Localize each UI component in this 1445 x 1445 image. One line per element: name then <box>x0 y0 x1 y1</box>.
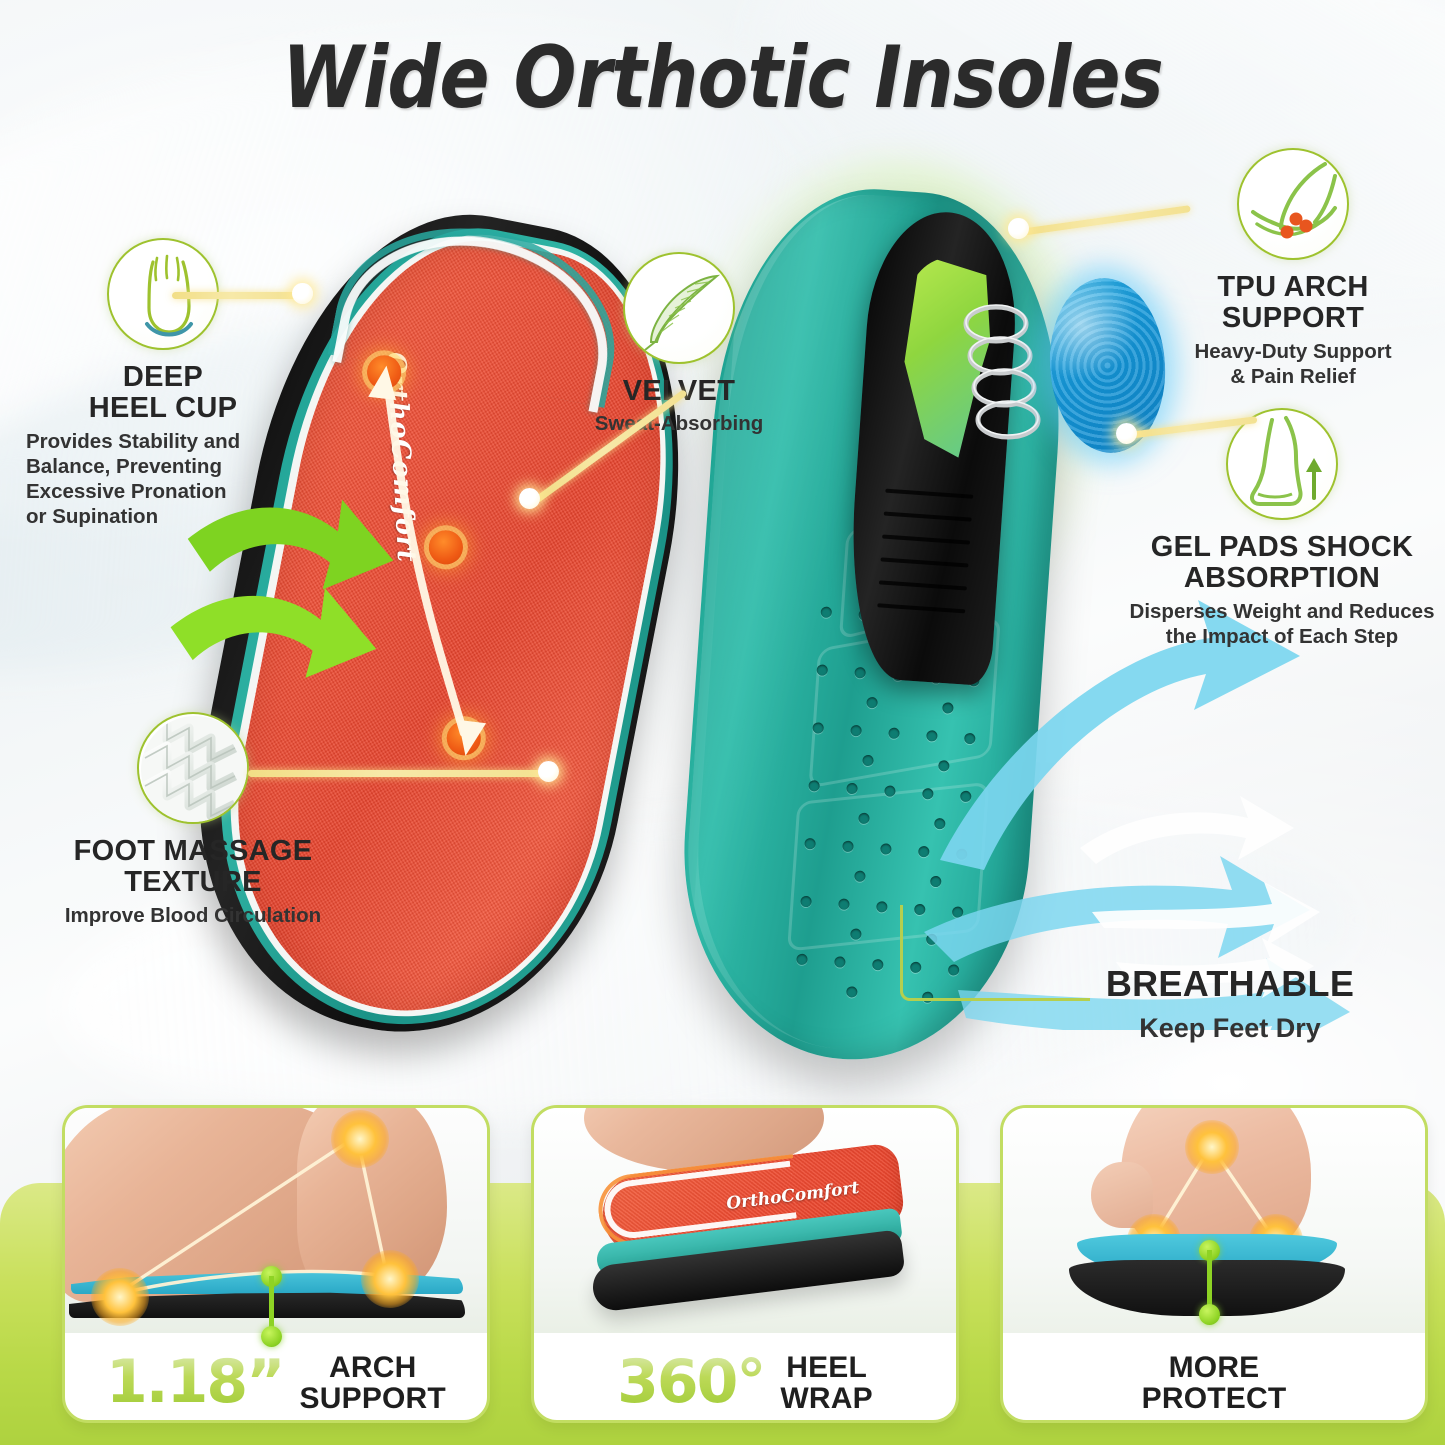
panel-caption: MORE PROTECT <box>1003 1352 1425 1414</box>
feature-title: FOOT MASSAGE TEXTURE <box>28 836 358 899</box>
feature-title-line: BREATHABLE <box>1050 965 1410 1004</box>
panel-label: ARCH SUPPORT <box>300 1352 446 1414</box>
feature-subtitle-line: Disperses Weight and Reduces <box>1126 599 1438 624</box>
feature-subtitle-line: Provides Stability and <box>26 429 308 454</box>
feature-gel-pads-shock-absorption: GEL PADS SHOCK ABSORPTION Disperses Weig… <box>1126 408 1438 649</box>
feature-title-line: TPU ARCH <box>1148 272 1438 303</box>
feature-subtitle-line: & Pain Relief <box>1148 364 1438 389</box>
panel-photo-foot-side-view <box>65 1108 487 1333</box>
panel-label: HEEL WRAP <box>780 1352 872 1414</box>
infographic-canvas: Wide Orthotic Insoles OrthoComfort <box>0 0 1445 1445</box>
pressure-hotspot <box>361 1250 419 1308</box>
feature-subtitle-line: or Supination <box>26 504 308 529</box>
feature-title-line: HEEL CUP <box>18 393 308 424</box>
feature-title-line: TEXTURE <box>28 867 358 898</box>
feature-subtitle: Improve Blood Circulation <box>28 903 358 928</box>
feature-subtitle-line: Excessive Pronation <box>26 479 308 504</box>
feature-title: BREATHABLE <box>1050 965 1410 1004</box>
feature-title: DEEP HEEL CUP <box>18 362 308 425</box>
feature-title: VELVET <box>566 376 792 407</box>
arch-pressure-points-icon <box>1237 148 1349 260</box>
feature-subtitle: Provides Stability and Balance, Preventi… <box>18 429 308 529</box>
feature-title-line: GEL PADS SHOCK <box>1126 532 1438 563</box>
feature-deep-heel-cup: DEEP HEEL CUP Provides Stability and Bal… <box>18 238 308 529</box>
feature-title-line: ABSORPTION <box>1126 563 1438 594</box>
feature-subtitle-line: Improve Blood Circulation <box>28 903 358 928</box>
panel-label-line: PROTECT <box>1142 1383 1287 1414</box>
feature-subtitle-line: Heavy-Duty Support <box>1148 339 1438 364</box>
panel-more-protect: MORE PROTECT <box>1000 1105 1428 1423</box>
measure-dot-bottom <box>1199 1304 1220 1325</box>
page-title: Wide Orthotic Insoles <box>101 28 1344 128</box>
feature-breathable: BREATHABLE Keep Feet Dry <box>1050 965 1410 1045</box>
feature-subtitle: Disperses Weight and Reduces the Impact … <box>1126 599 1438 649</box>
panel-label: MORE PROTECT <box>1142 1352 1287 1414</box>
panel-label-line: WRAP <box>780 1383 872 1414</box>
feature-velvet: VELVET Sweat-Absorbing <box>566 252 792 436</box>
feature-tpu-arch-support: TPU ARCH SUPPORT Heavy-Duty Support & Pa… <box>1148 148 1438 389</box>
panel-metric: 360° <box>617 1355 764 1410</box>
panel-photo-foot-rear-view <box>1003 1108 1425 1333</box>
heel-cup-icon <box>107 238 219 350</box>
pressure-hotspot <box>331 1110 389 1168</box>
feather-icon <box>623 252 735 364</box>
panel-caption: 360° HEEL WRAP <box>534 1352 956 1414</box>
spring-icon <box>952 298 1052 458</box>
feature-subtitle-line: Keep Feet Dry <box>1050 1012 1410 1045</box>
pressure-hotspot <box>91 1268 149 1326</box>
feature-title-line: DEEP <box>18 362 308 393</box>
panel-heel-wrap: OrthoComfort 360° HEEL WRAP <box>531 1105 959 1423</box>
feature-title-line: SUPPORT <box>1148 303 1438 334</box>
feature-subtitle: Heavy-Duty Support & Pain Relief <box>1148 339 1438 389</box>
panel-arch-support: 1.18” ARCH SUPPORT <box>62 1105 490 1423</box>
feature-title-line: FOOT MASSAGE <box>28 836 358 867</box>
measure-line <box>1207 1250 1212 1310</box>
feature-title: TPU ARCH SUPPORT <box>1148 272 1438 335</box>
panel-metric: 1.18” <box>106 1355 283 1410</box>
pressure-hotspot <box>1185 1120 1239 1174</box>
feature-foot-massage-texture: FOOT MASSAGE TEXTURE Improve Blood Circu… <box>28 712 358 928</box>
panel-label-line: MORE <box>1142 1352 1287 1383</box>
measure-line <box>269 1276 274 1332</box>
feature-subtitle: Sweat-Absorbing <box>566 411 792 436</box>
feature-title: GEL PADS SHOCK ABSORPTION <box>1126 532 1438 595</box>
panel-label-line: SUPPORT <box>300 1383 446 1414</box>
panel-caption: 1.18” ARCH SUPPORT <box>65 1352 487 1414</box>
measure-dot-bottom <box>261 1326 282 1347</box>
feature-subtitle-line: Balance, Preventing <box>26 454 308 479</box>
panel-label-line: ARCH <box>300 1352 446 1383</box>
feature-subtitle-line: Sweat-Absorbing <box>566 411 792 436</box>
feature-title-line: VELVET <box>566 376 792 407</box>
tpu-ridges <box>874 489 974 665</box>
panel-photo-heel-cup: OrthoComfort <box>534 1108 956 1333</box>
feature-subtitle-line: the Impact of Each Step <box>1126 624 1438 649</box>
foot-upward-arrow-icon <box>1226 408 1338 520</box>
zigzag-texture-icon <box>137 712 249 824</box>
panel-label-line: HEEL <box>780 1352 872 1383</box>
feature-subtitle: Keep Feet Dry <box>1050 1012 1410 1045</box>
